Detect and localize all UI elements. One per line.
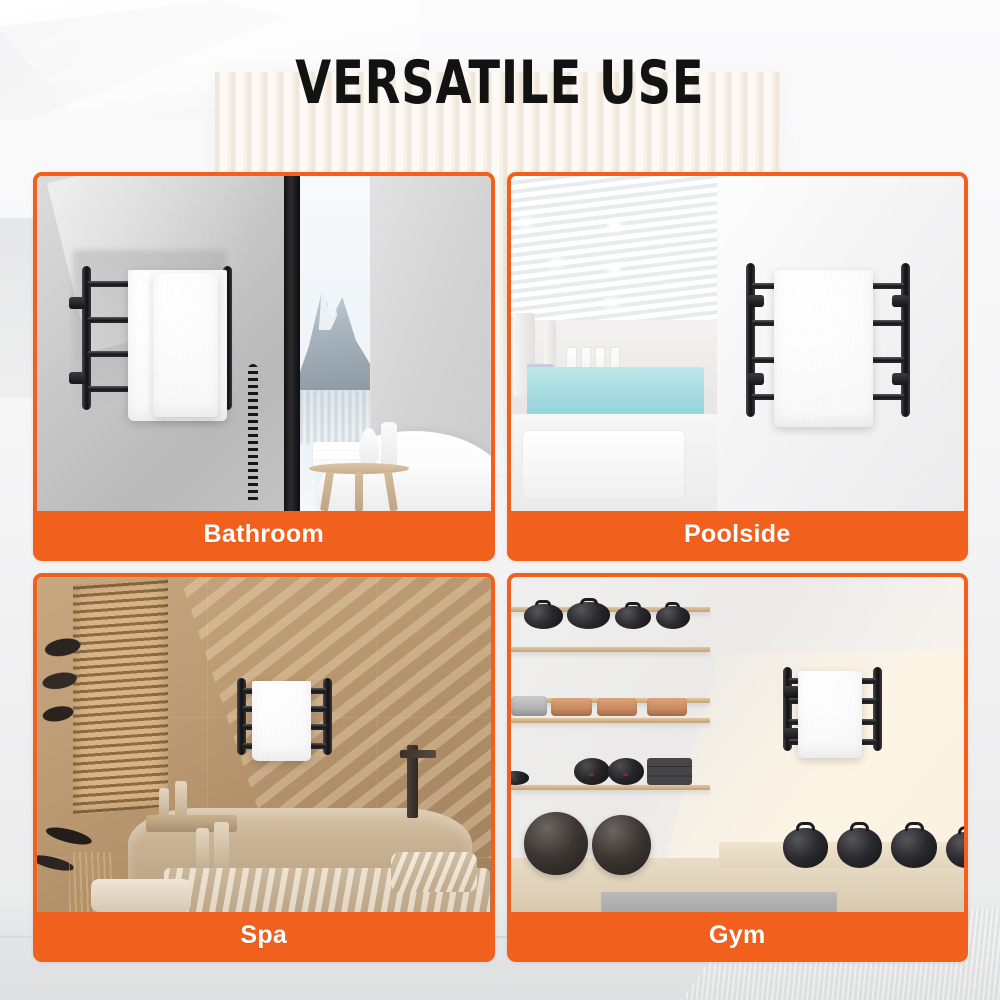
label-gym: Gym [709, 921, 765, 950]
label-spa: Spa [240, 921, 287, 950]
panel-spa[interactable]: Spa [33, 573, 495, 962]
pool-hot-tub [523, 431, 684, 498]
warmer-wall-mount [892, 373, 908, 385]
pool-downlight [607, 300, 616, 305]
use-case-grid: Bathroom [33, 172, 968, 962]
gym-folded-towels [647, 758, 692, 785]
kettlebell-handle [665, 602, 679, 607]
spa-amenity-bottle [175, 781, 187, 818]
spa-amenity-bottle [214, 822, 229, 872]
pool-downlight [610, 223, 619, 228]
kettlebell-handle [850, 822, 869, 831]
label-bar-spa: Spa [37, 912, 491, 958]
gym-cushion [647, 698, 688, 716]
kettlebell-handle [580, 598, 598, 604]
window-tree-line [300, 390, 370, 444]
stool-leg [355, 472, 363, 511]
gym-shelf [511, 647, 711, 652]
gym-kettlebell [524, 604, 563, 629]
warmer-wall-mount [748, 295, 764, 307]
warmer-wall-mount [892, 295, 908, 307]
towel-gym [798, 671, 861, 758]
panel-gym[interactable]: Gym [507, 573, 969, 962]
spa-rolled-towels [91, 879, 191, 913]
warmer-wall-mount-bottom [69, 372, 85, 384]
scene-gym [511, 577, 965, 912]
stool-leg [384, 471, 398, 511]
scene-poolside [511, 176, 965, 511]
bathroom-door-frame [284, 176, 300, 511]
kettlebell-handle [625, 602, 640, 607]
stool-leg [320, 471, 334, 511]
gym-kettlebell [567, 602, 610, 629]
spa-striped-pillow [391, 852, 477, 892]
spa-faucet-spout [400, 750, 436, 758]
gym-shelf [511, 785, 711, 790]
pool-downlight [610, 266, 619, 271]
label-poolside: Poolside [684, 520, 791, 549]
gym-exercise-ball [592, 815, 651, 875]
towel-poolside [774, 270, 874, 427]
panel-bathroom[interactable]: Bathroom [33, 172, 495, 561]
gym-floor-mat [601, 892, 837, 912]
scene-bathroom [37, 176, 491, 511]
scene-spa [37, 577, 491, 912]
poolside-pool-area [511, 176, 717, 511]
page-title: VERSATILE USE [295, 52, 704, 115]
label-bathroom: Bathroom [204, 520, 324, 549]
label-bar-poolside: Poolside [511, 511, 965, 557]
gym-medicine-ball [608, 758, 644, 785]
gym-floor-kettlebell [891, 828, 936, 868]
gym-kettlebell [615, 606, 651, 629]
pool-slatted-ceiling [511, 176, 717, 333]
bathroom-power-cord [248, 364, 258, 505]
warmer-wall-mount [784, 728, 800, 740]
gym-cushion-gray [511, 696, 547, 716]
pool-downlight [552, 260, 561, 265]
gym-medicine-ball [574, 758, 610, 785]
gym-exercise-ball [524, 812, 587, 876]
bathroom-bottle [381, 422, 397, 466]
pool-downlight [521, 220, 530, 225]
warmer-wall-mount [748, 373, 764, 385]
gym-cushion [597, 698, 638, 716]
label-bar-bathroom: Bathroom [37, 511, 491, 557]
kettlebell-handle [905, 822, 924, 831]
gym-kettlebell [656, 606, 690, 629]
warmer-wall-mount [784, 686, 800, 698]
spa-amenity-bottle [196, 828, 210, 872]
warmer-wall-mount-top [69, 297, 85, 309]
title-container: VERSATILE USE [0, 52, 1000, 115]
kettlebell-handle [535, 600, 551, 606]
kettlebell-handle [796, 822, 815, 831]
towel-bathroom-second [153, 273, 219, 417]
label-bar-gym: Gym [511, 912, 965, 958]
towel-spa [252, 681, 311, 761]
gym-cushion [551, 698, 592, 716]
spa-amenity-bottle [159, 788, 169, 818]
gym-shelf [511, 718, 711, 723]
bathroom-stool [309, 441, 409, 511]
panel-poolside[interactable]: Poolside [507, 172, 969, 561]
